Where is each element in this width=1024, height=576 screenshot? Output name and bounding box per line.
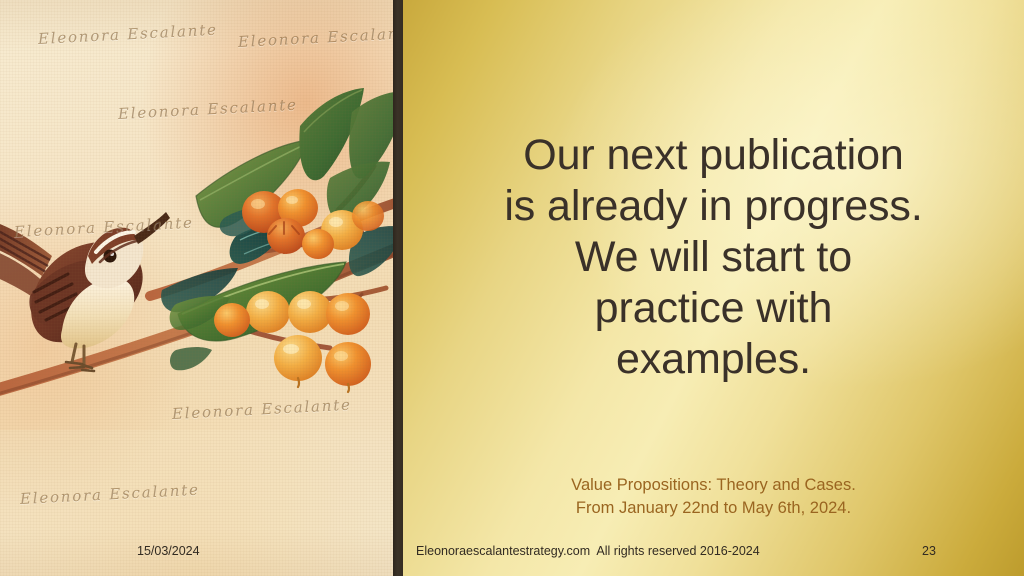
headline-line: practice with [403, 283, 1024, 334]
footer-page-number: 23 [922, 543, 936, 559]
artwork-panel: Eleonora EscalanteEleonora EscalanteEleo… [0, 0, 393, 576]
subtitle-line: From January 22nd to May 6th, 2024. [403, 497, 1024, 520]
subtitle-line: Value Propositions: Theory and Cases. [403, 474, 1024, 497]
headline-line: examples. [403, 334, 1024, 385]
headline-line: Our next publication [403, 130, 1024, 181]
slide-headline: Our next publication is already in progr… [403, 130, 1024, 385]
headline-line: is already in progress. [403, 181, 1024, 232]
content-panel: Our next publication is already in progr… [403, 0, 1024, 576]
presentation-slide: Eleonora EscalanteEleonora EscalanteEleo… [0, 0, 1024, 576]
footer-date: 15/03/2024 [137, 543, 200, 559]
panel-divider [393, 0, 403, 576]
slide-subtitle: Value Propositions: Theory and Cases. Fr… [403, 474, 1024, 520]
headline-line: We will start to [403, 232, 1024, 283]
footer-copyright: Eleonoraescalantestrategy.com All rights… [416, 543, 760, 559]
